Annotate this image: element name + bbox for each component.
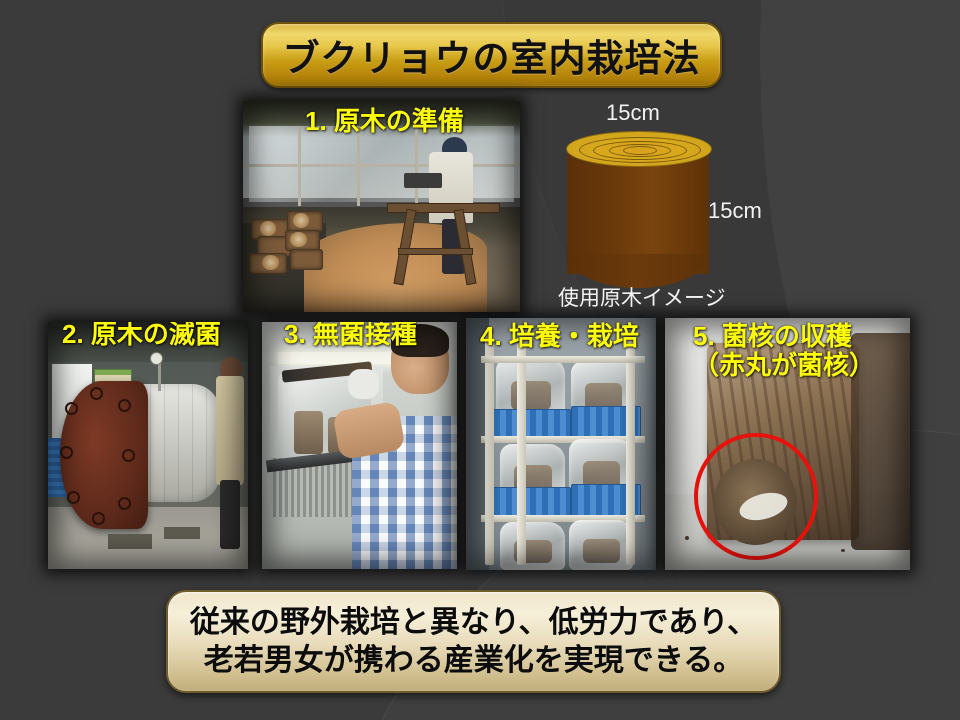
step-2-label: 2. 原木の滅菌: [62, 322, 221, 349]
log-preparation-photo: 1. 原木の準備: [243, 101, 520, 312]
step-3-label: 3. 無菌接種: [284, 322, 417, 349]
clean-bench-scene: [262, 322, 457, 569]
log-dimension-diagram: 15cm 15cm 使用原木イメージ: [540, 100, 810, 310]
sclerotium-highlight-circle: [694, 433, 817, 559]
diagram-caption: 使用原木イメージ: [558, 282, 726, 312]
slide-canvas: ブクリョウの室内栽培法: [0, 0, 960, 720]
page-title: ブクリョウの室内栽培法: [283, 28, 701, 82]
title-plate: ブクリョウの室内栽培法: [261, 22, 722, 88]
conclusion-plate: 従来の野外栽培と異なり、低労力であり、 老若男女が携わる産業化を実現できる。: [166, 590, 781, 693]
step-5-label: 5. 菌核の収穫 （赤丸が菌核）: [693, 322, 875, 380]
log-sterilization-photo: 2. 原木の滅菌: [48, 322, 248, 569]
growth-ring-4: [623, 146, 657, 155]
conclusion-line-1: 従来の野外栽培と異なり、低労力であり、: [190, 604, 757, 642]
step-1-label: 1. 原木の準備: [305, 107, 464, 136]
autoclave-scene: [48, 322, 248, 569]
shelf-rack-scene: [466, 318, 656, 570]
dimension-top-label: 15cm: [606, 100, 660, 126]
aseptic-inoculation-photo: 3. 無菌接種: [262, 322, 457, 569]
sclerotium-harvest-photo: 5. 菌核の収穫 （赤丸が菌核）: [665, 318, 910, 570]
log-cylinder-top: [566, 131, 712, 167]
cultivation-rack-photo: 4. 培養・栽培: [466, 318, 656, 570]
step-4-label: 4. 培養・栽培: [480, 322, 639, 351]
conclusion-line-2: 老若男女が携わる産業化を実現できる。: [204, 642, 743, 680]
dimension-right-label: 15cm: [708, 198, 762, 224]
